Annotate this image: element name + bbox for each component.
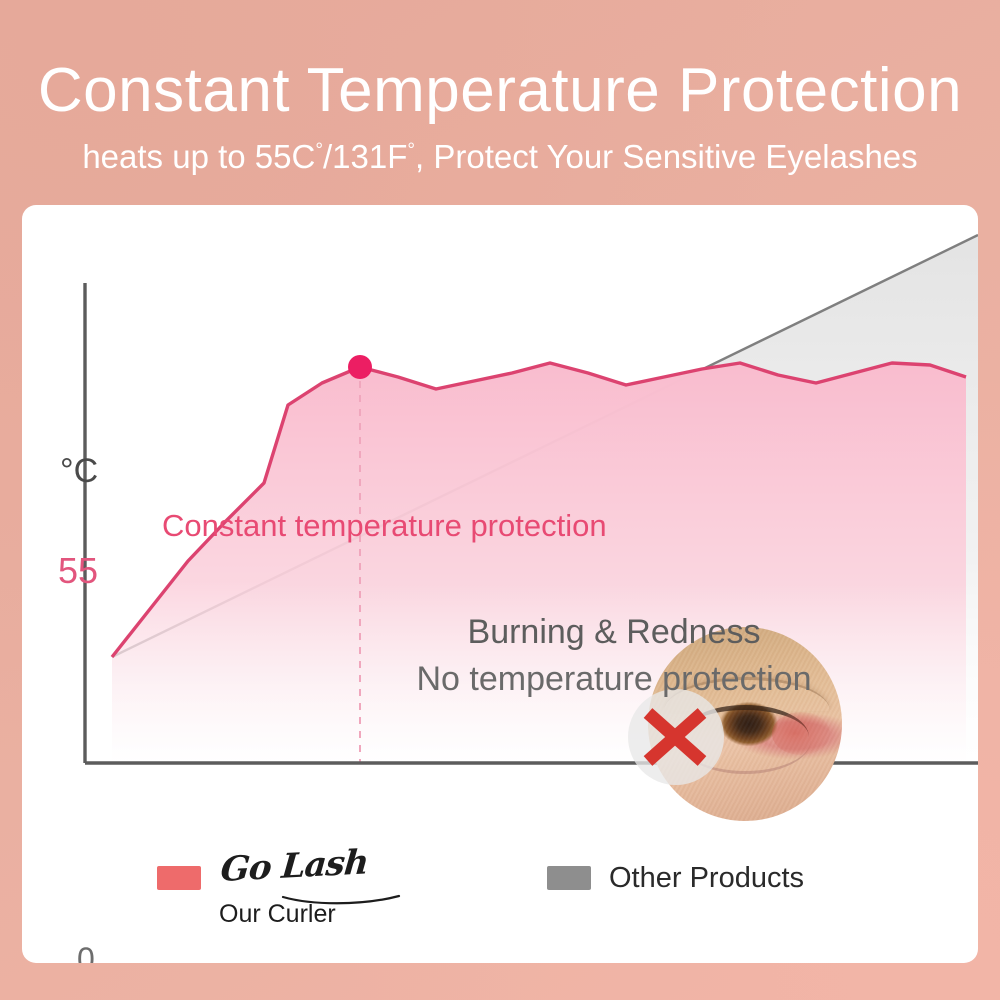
red-x-icon: [636, 697, 716, 777]
chart-legend: Go Lash Our Curler Other Products: [22, 850, 978, 950]
subtitle-pre: heats up to 55C: [82, 138, 315, 175]
peak-data-point: [348, 355, 372, 379]
degree-symbol-celsius: °: [315, 140, 323, 161]
legend-item-our-curler[interactable]: Go Lash Our Curler: [157, 850, 365, 929]
subtitle-post: , Protect Your Sensitive Eyelashes: [415, 138, 918, 175]
chart-card: °C 55 0 2 4 6 8 10 12 14 16 18 20 22 24 …: [22, 205, 978, 963]
chart-inline-title: Constant temperature protection: [162, 508, 607, 544]
y-tick-55: 55: [58, 550, 98, 592]
redness-area: [772, 712, 830, 755]
y-axis-unit-label: °C: [60, 452, 98, 491]
callout-title: Burning & Redness: [404, 613, 824, 652]
degree-symbol-fahrenheit: °: [407, 140, 415, 161]
legend-label-other-products: Other Products: [609, 862, 804, 895]
logo-underline-flourish: [281, 894, 401, 906]
legend-swatch-our-curler: [157, 866, 201, 890]
header-banner: Constant Temperature Protection heats up…: [0, 0, 1000, 200]
legend-swatch-other-products: [547, 866, 591, 890]
go-lash-logo: Go Lash: [219, 842, 370, 890]
legend-text-our-curler: Go Lash Our Curler: [219, 850, 365, 929]
page-title: Constant Temperature Protection: [0, 55, 1000, 127]
page-subtitle: heats up to 55C°/131F°, Protect Your Sen…: [0, 130, 1000, 178]
legend-item-other-products[interactable]: Other Products: [547, 850, 804, 895]
subtitle-mid: /131F: [323, 138, 407, 175]
burning-redness-callout: [648, 627, 842, 821]
callout-subtitle: No temperature protection: [324, 660, 904, 699]
